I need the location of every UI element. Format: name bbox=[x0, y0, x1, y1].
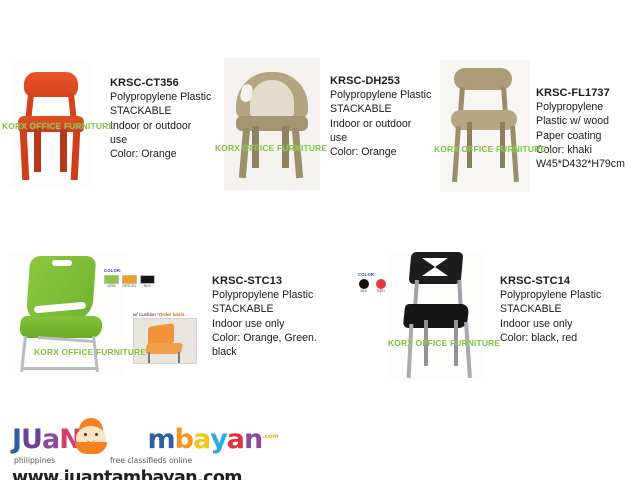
product-image-fl1737 bbox=[440, 60, 530, 192]
swatch-label: GRN bbox=[104, 284, 119, 288]
logo-letter-0: J bbox=[12, 425, 21, 455]
chair-leg-back-left bbox=[467, 122, 472, 168]
chair-leg-front-right bbox=[464, 322, 472, 378]
product-card-ct356[interactable]: KRSC-CT356 Polypropylene Plastic STACKAB… bbox=[10, 62, 211, 188]
cushion-caption: w/ Cushion *Order basis. bbox=[133, 312, 197, 317]
chair-back-cutout-upper bbox=[422, 258, 448, 267]
product-sku: KRSC-STC13 bbox=[212, 274, 317, 288]
chair-back-post-left bbox=[26, 94, 34, 118]
swatch-chip-blk bbox=[140, 275, 155, 284]
swatch-chip-grn bbox=[104, 275, 119, 284]
chair-leg-back-right bbox=[500, 122, 505, 168]
chair-frame-sled-base bbox=[22, 367, 98, 371]
tagline-right: free classifieds online bbox=[110, 456, 192, 465]
swatch-title: COLOR: bbox=[358, 272, 400, 277]
chair-leg-back-left bbox=[34, 128, 41, 172]
cushion-caption-accent: *Order basis. bbox=[157, 312, 186, 317]
product-line-3: Indoor or outdoor bbox=[110, 119, 211, 133]
product-sku: KRSC-FL1737 bbox=[536, 86, 625, 100]
tagline-left: philippines bbox=[14, 456, 55, 465]
product-line-1: Polypropylene Plastic bbox=[110, 90, 211, 104]
chair-leg-front-right bbox=[71, 130, 81, 180]
product-line-1: Polypropylene bbox=[536, 100, 625, 114]
logo-dotcom: .com bbox=[262, 422, 278, 452]
product-description-ct356: KRSC-CT356 Polypropylene Plastic STACKAB… bbox=[110, 76, 211, 161]
swatch-item[interactable]: GRN bbox=[104, 275, 119, 289]
site-url[interactable]: www.juantambayan.com bbox=[12, 468, 278, 480]
logo-letter-1: U bbox=[21, 425, 42, 455]
product-line-1: Polypropylene Plastic bbox=[330, 88, 431, 102]
mascot-icon bbox=[74, 418, 108, 452]
chair-leg-front-right bbox=[292, 128, 303, 178]
cushion-option-inset: w/ Cushion *Order basis. bbox=[133, 312, 197, 364]
logo-letter-11: n bbox=[244, 425, 262, 455]
logo-letter-6: m bbox=[147, 425, 174, 455]
product-line-3: Indoor use only bbox=[500, 317, 601, 331]
chair-leg-front-right bbox=[510, 126, 519, 182]
logo-letter-10: a bbox=[227, 425, 244, 455]
product-line-4: Color: black, red bbox=[500, 331, 601, 345]
product-card-fl1737[interactable]: KRSC-FL1737 Polypropylene Plastic w/ woo… bbox=[440, 60, 625, 192]
logo-tagline: philippines free classifieds online bbox=[12, 456, 212, 467]
product-line-5: W45*D432*H79cm bbox=[536, 157, 625, 171]
logo-letter-9: y bbox=[210, 425, 227, 455]
swatch-label: BLK bbox=[358, 289, 370, 293]
logo-letter-2: a bbox=[42, 425, 59, 455]
chair-seat bbox=[19, 316, 103, 338]
color-swatches-stc13: COLOR: GRN ORG/GL BLK bbox=[104, 268, 160, 288]
product-line-5: Color: Orange bbox=[110, 147, 211, 161]
swatch-dot-red bbox=[376, 279, 386, 289]
product-line-4: Color: Orange, Green. bbox=[212, 331, 317, 345]
product-line-2: Plastic w/ wood bbox=[536, 114, 625, 128]
product-description-fl1737: KRSC-FL1737 Polypropylene Plastic w/ woo… bbox=[536, 86, 625, 171]
product-card-stc14[interactable]: KRSC-STC14 Polypropylene Plastic STACKAB… bbox=[386, 250, 601, 382]
product-line-2: STACKABLE bbox=[500, 302, 601, 316]
product-line-1: Polypropylene Plastic bbox=[212, 288, 317, 302]
swatch-item[interactable]: BLK bbox=[358, 279, 370, 294]
swatch-chip-org bbox=[122, 275, 137, 284]
chair-leg-back-left bbox=[252, 126, 259, 168]
chair-inner-back bbox=[250, 80, 294, 120]
product-card-dh253[interactable]: KRSC-DH253 Polypropylene Plastic STACKAB… bbox=[224, 58, 431, 190]
product-sku: KRSC-STC14 bbox=[500, 274, 601, 288]
cushion-chair-leg-right bbox=[178, 352, 180, 364]
product-line-2: STACKABLE bbox=[212, 302, 317, 316]
product-line-2: STACKABLE bbox=[330, 102, 431, 116]
product-line-4: use bbox=[330, 131, 431, 145]
chair-leg-front-left bbox=[407, 324, 414, 378]
swatch-label: RED bbox=[375, 289, 387, 293]
product-line-1: Polypropylene Plastic bbox=[500, 288, 601, 302]
product-line-4: use bbox=[110, 133, 211, 147]
logo-letters: JUaNTambayan bbox=[12, 425, 262, 455]
product-line-3: Paper coating bbox=[536, 129, 625, 143]
product-line-3: Indoor or outdoor bbox=[330, 117, 431, 131]
swatch-item[interactable]: RED bbox=[375, 279, 387, 294]
product-line-3: Indoor use only bbox=[212, 317, 317, 331]
chair-leg-front-left bbox=[20, 130, 30, 180]
chair-leg-back-right bbox=[60, 128, 67, 172]
product-image-ct356 bbox=[10, 62, 92, 188]
product-catalog-page: KRSC-CT356 Polypropylene Plastic STACKAB… bbox=[0, 0, 640, 480]
product-line-5: Color: Orange bbox=[330, 145, 431, 159]
product-description-stc14: KRSC-STC14 Polypropylene Plastic STACKAB… bbox=[500, 274, 601, 345]
chair-handle-cutout bbox=[52, 260, 72, 266]
chair-leg-front-left bbox=[239, 128, 250, 178]
product-description-dh253: KRSC-DH253 Polypropylene Plastic STACKAB… bbox=[330, 74, 431, 159]
swatch-row: BLK RED bbox=[358, 279, 400, 294]
product-image-dh253 bbox=[224, 58, 320, 190]
swatch-label: BLK bbox=[140, 284, 155, 288]
product-line-4: Color: khaki bbox=[536, 143, 625, 157]
color-swatches-stc14: COLOR: BLK RED bbox=[358, 272, 400, 293]
cushion-image bbox=[133, 318, 197, 364]
swatch-dot-blk bbox=[359, 279, 369, 289]
product-line-2: STACKABLE bbox=[110, 104, 211, 118]
site-logo[interactable]: JUaNTambayan.com philippines free classi… bbox=[12, 422, 278, 480]
chair-leg-back-right bbox=[454, 320, 458, 366]
swatch-label: ORG/GL bbox=[122, 284, 137, 288]
product-sku: KRSC-CT356 bbox=[110, 76, 211, 90]
logo-wordmark: JUaNTambayan.com bbox=[12, 422, 278, 455]
logo-letter-7: b bbox=[175, 425, 193, 455]
chair-leg-back-right bbox=[282, 126, 289, 168]
product-image-stc14 bbox=[386, 250, 486, 382]
swatch-item[interactable]: BLK bbox=[140, 275, 155, 289]
chair-leg-front-left bbox=[452, 126, 461, 182]
swatch-title: COLOR: bbox=[104, 268, 160, 273]
logo-letter-8: a bbox=[193, 425, 210, 455]
product-description-stc13: KRSC-STC13 Polypropylene Plastic STACKAB… bbox=[212, 274, 317, 359]
product-sku: KRSC-DH253 bbox=[330, 74, 431, 88]
cushion-caption-plain: w/ Cushion bbox=[133, 312, 157, 317]
chair-back-cutout-lower bbox=[422, 267, 448, 276]
swatch-item[interactable]: ORG/GL bbox=[122, 275, 137, 289]
chair-back-post-right bbox=[68, 94, 76, 118]
mascot-eye-left bbox=[84, 433, 87, 436]
mascot-eye-right bbox=[95, 433, 98, 436]
product-line-5: black bbox=[212, 345, 317, 359]
cushion-chair-leg-left bbox=[148, 352, 150, 364]
chair-leg-back-left bbox=[424, 320, 428, 366]
swatch-row: GRN ORG/GL BLK bbox=[104, 275, 160, 289]
